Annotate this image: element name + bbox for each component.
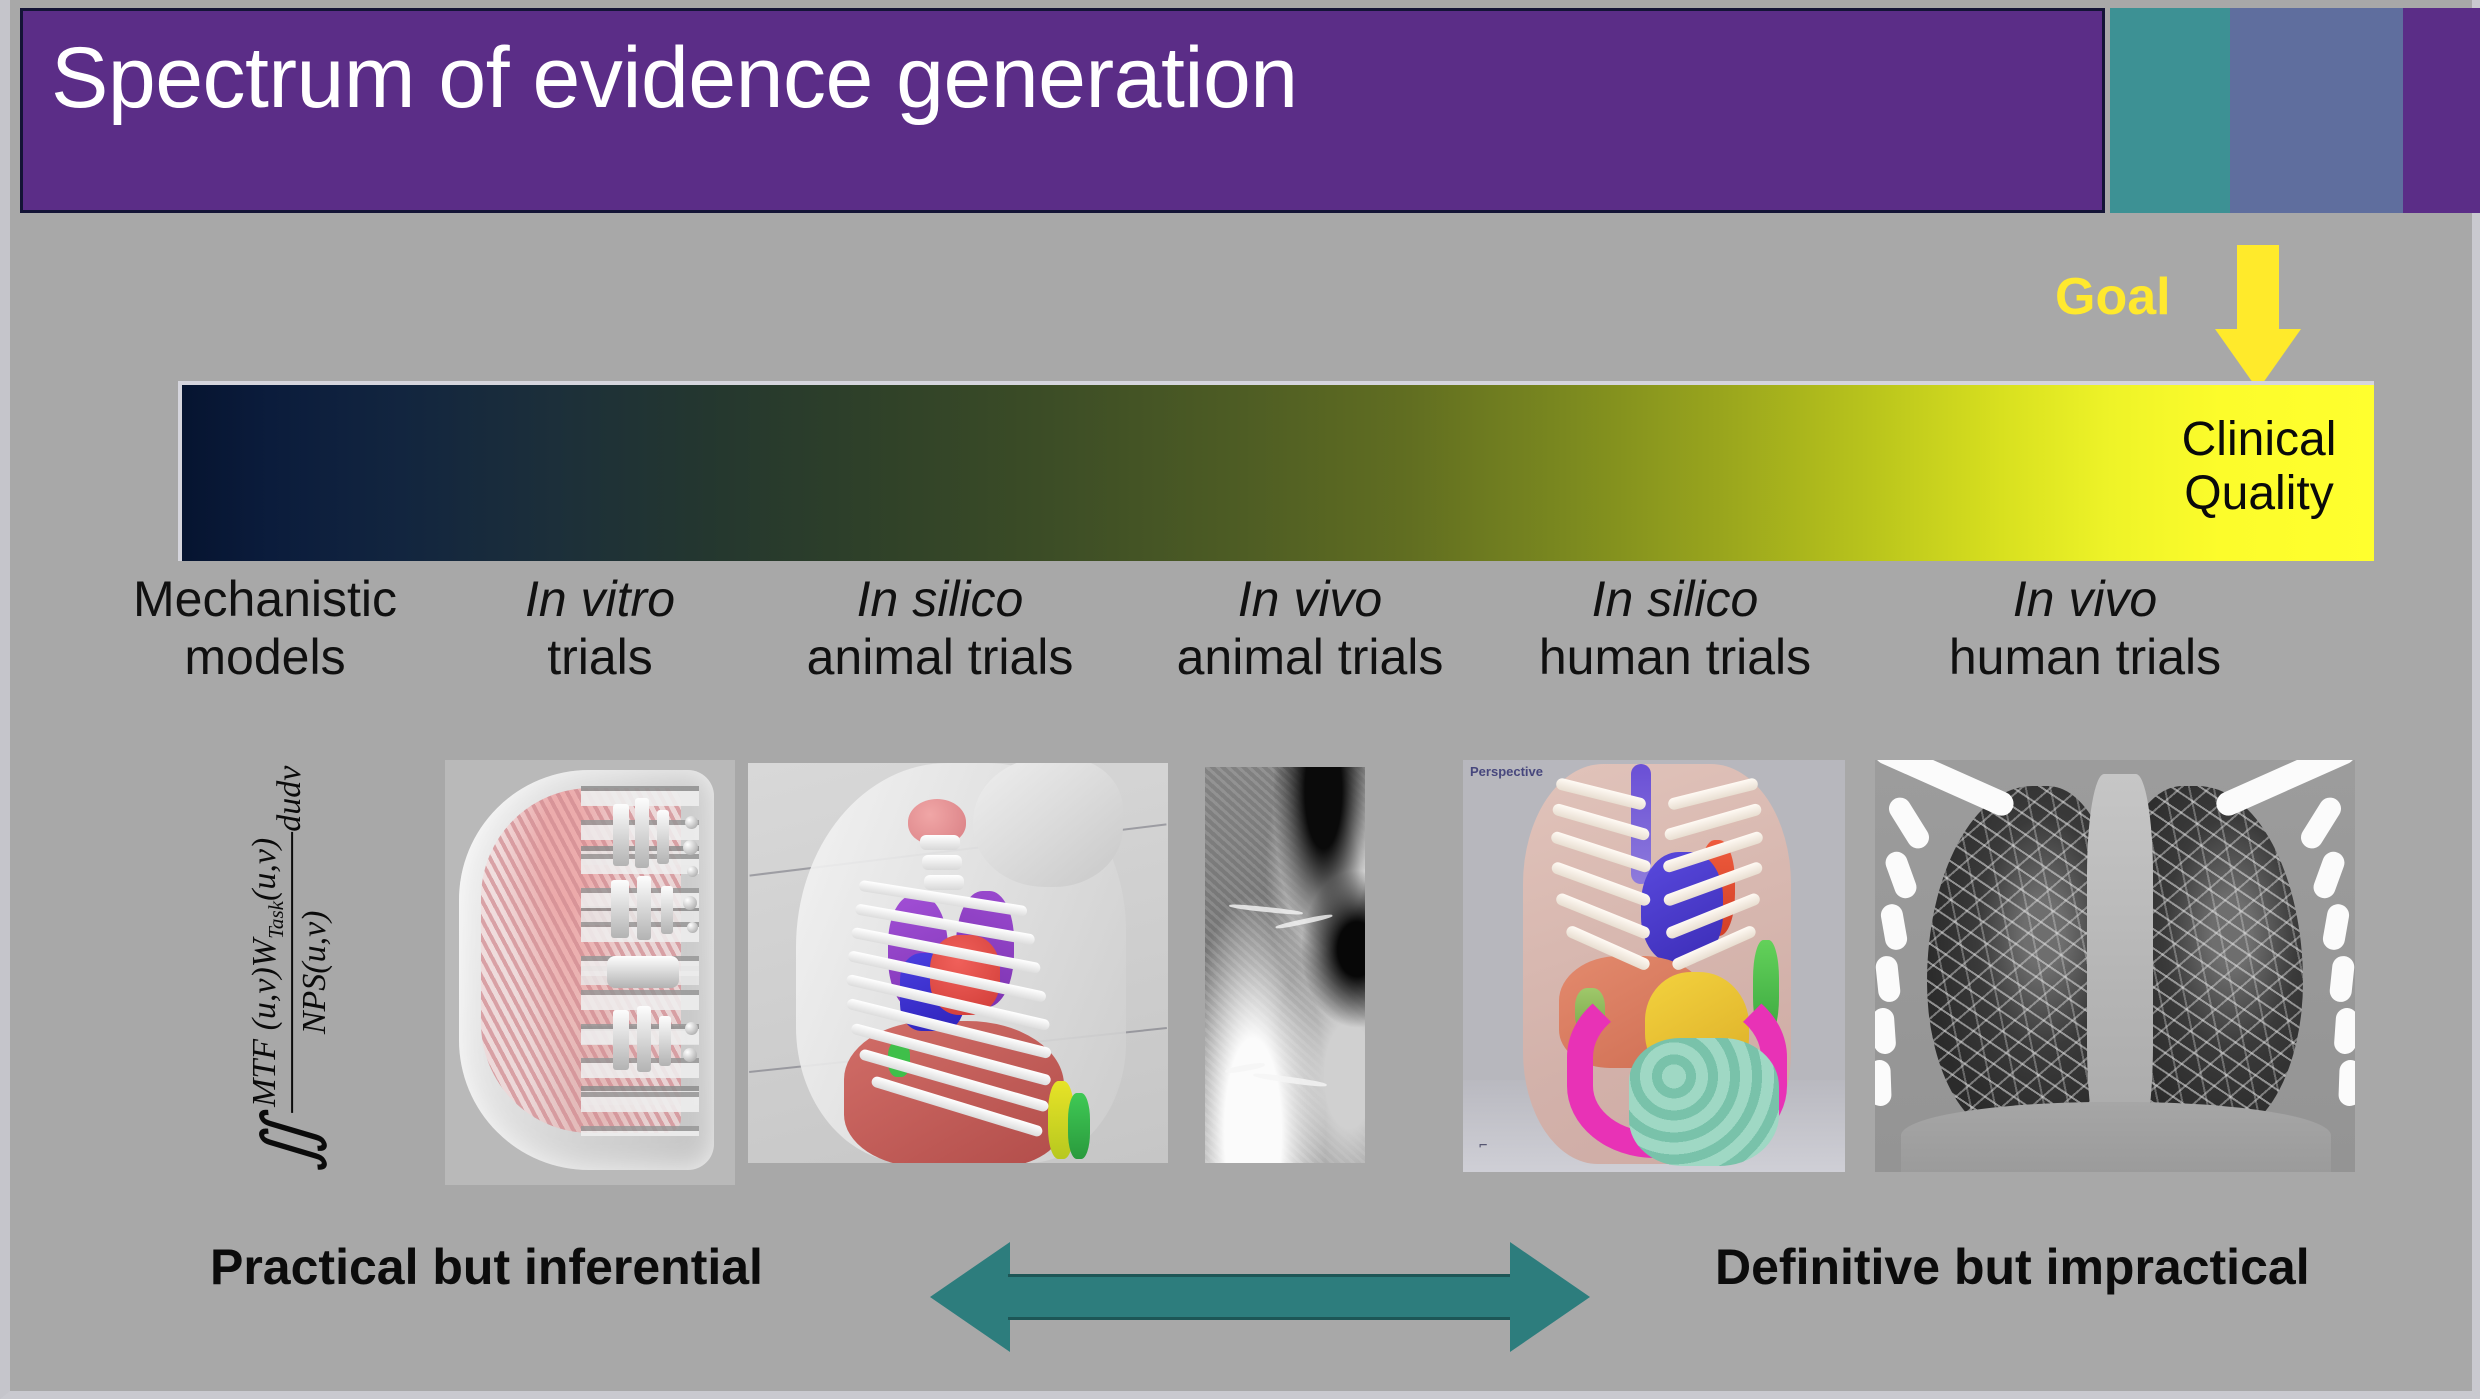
- goal-label: Goal: [2055, 267, 2171, 327]
- header-banner: Spectrum of evidence generation: [20, 8, 2105, 213]
- evidence-spectrum-gradient-bar: Clinical Quality: [178, 381, 2374, 561]
- stage-label-mechanistic-models: Mechanistic models: [80, 570, 450, 686]
- stage-line2: animal trials: [1177, 629, 1444, 685]
- stage-label-row: Mechanistic models In vitro trials In si…: [20, 570, 2480, 730]
- clinical-quality-line1: Clinical: [2154, 413, 2364, 467]
- figure-in-vitro-phantom: [445, 760, 735, 1185]
- stage-line1: In vivo: [2013, 571, 2158, 627]
- stage-line1: In silico: [857, 571, 1024, 627]
- clinical-quality-line2: Quality: [2154, 467, 2364, 521]
- tradeoff-right-label: Definitive but impractical: [1715, 1238, 2310, 1296]
- axis-gizmo-icon: ⌐: [1479, 1138, 1487, 1154]
- stage-line2: human trials: [1539, 629, 1811, 685]
- stage-line1: In vivo: [1238, 571, 1383, 627]
- stage-label-in-vivo-animal-trials: In vivo animal trials: [1140, 570, 1480, 686]
- stage-line1: Mechanistic: [133, 571, 397, 627]
- double-headed-arrow-icon: [930, 1242, 1590, 1352]
- stage-line2: animal trials: [807, 629, 1074, 685]
- perspective-viewport-label: Perspective: [1470, 764, 1543, 779]
- stage-label-in-silico-human-trials: In silico human trials: [1480, 570, 1870, 686]
- header-swatch-slate-blue: [2230, 8, 2403, 213]
- tradeoff-left-label: Practical but inferential: [210, 1238, 763, 1296]
- stage-label-in-vitro-trials: In vitro trials: [460, 570, 740, 686]
- stage-line2: trials: [547, 629, 653, 685]
- tradeoff-row: Practical but inferential Definitive but…: [20, 1230, 2480, 1360]
- figure-in-silico-human-phantom: Perspective ⌐: [1463, 760, 1845, 1172]
- down-arrow-icon: [2215, 245, 2301, 390]
- clinical-quality-label: Clinical Quality: [2154, 413, 2364, 521]
- figure-in-vivo-animal-radiograph: [1205, 767, 1365, 1163]
- header-swatch-purple: [2403, 8, 2480, 213]
- slide-header: Spectrum of evidence generation: [20, 8, 2472, 213]
- figure-in-silico-animal-phantom: [748, 763, 1168, 1163]
- stage-line1: In silico: [1592, 571, 1759, 627]
- page-title: Spectrum of evidence generation: [51, 33, 1298, 123]
- slide-canvas: Spectrum of evidence generation Goal Cli…: [0, 0, 2480, 1399]
- figure-strip: Perspective ⌐: [20, 745, 2480, 1185]
- goal-callout: Goal: [2055, 245, 2315, 390]
- stage-line2: human trials: [1949, 629, 2221, 685]
- stage-label-in-vivo-human-trials: In vivo human trials: [1890, 570, 2280, 686]
- stage-label-in-silico-animal-trials: In silico animal trials: [750, 570, 1130, 686]
- stage-line2: models: [184, 629, 345, 685]
- header-swatch-teal: [2110, 8, 2230, 213]
- stage-line1: In vitro: [525, 571, 675, 627]
- figure-in-vivo-human-ct: [1875, 760, 2355, 1172]
